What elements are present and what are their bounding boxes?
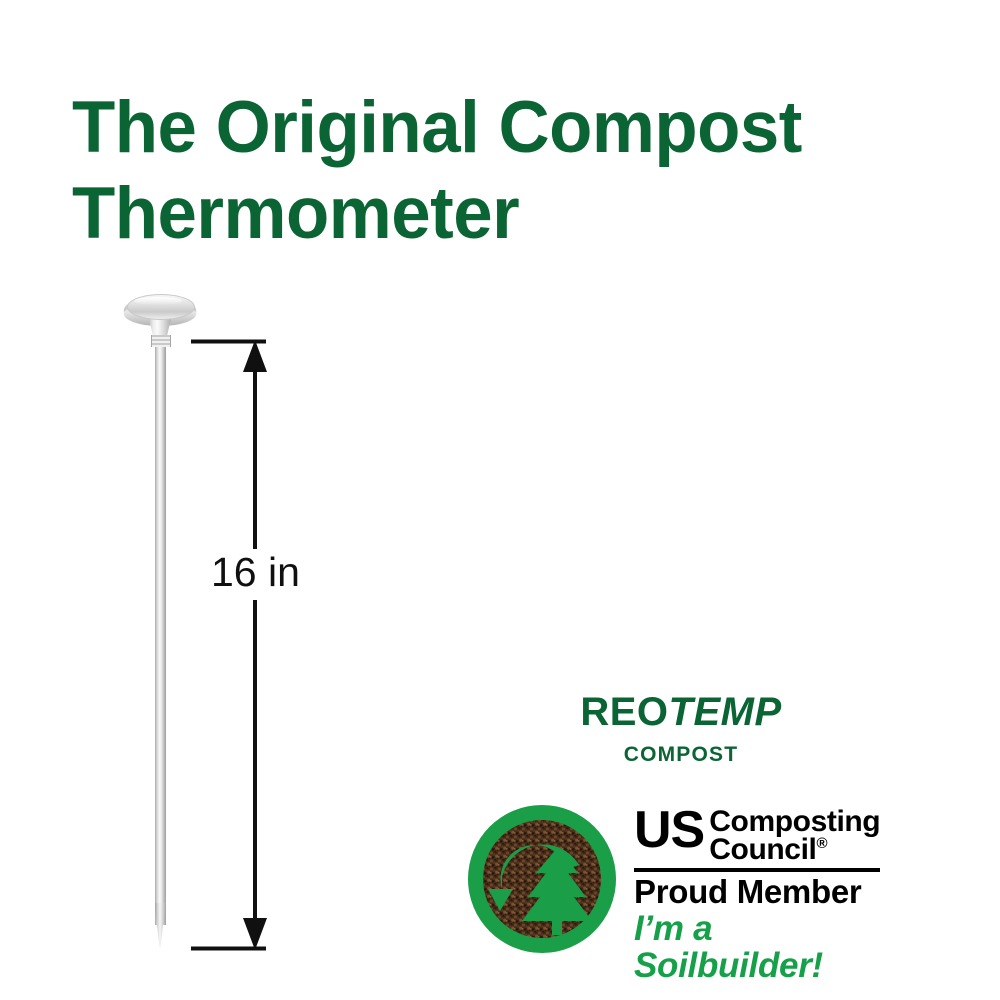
dial-gloss bbox=[134, 297, 182, 305]
uscc-proud-member-badge: US Composting Council® Proud Member I’m … bbox=[466, 803, 886, 963]
arrow-up-icon bbox=[243, 340, 267, 372]
page-title: The Original Compost Thermometer bbox=[72, 85, 945, 257]
reotemp-temp: TEMP bbox=[669, 690, 782, 734]
uscc-us-label: US bbox=[634, 807, 704, 855]
reotemp-subtitle: COMPOST bbox=[556, 743, 806, 767]
dimension-label: 16 in bbox=[204, 549, 307, 596]
poster-canvas: The Original Compost Thermometer 16 in R… bbox=[0, 0, 1000, 1000]
uscc-proud-member-label: Proud Member bbox=[634, 875, 886, 910]
registered-mark-icon: ® bbox=[816, 835, 827, 852]
probe-tip bbox=[155, 903, 166, 948]
uscc-text-block: US Composting Council® Proud Member I’m … bbox=[634, 807, 886, 984]
uscc-council-line1: Composting bbox=[709, 808, 880, 836]
reotemp-wordmark: REOTEMP bbox=[556, 692, 806, 732]
uscc-compost-emblem-icon bbox=[466, 803, 618, 955]
reotemp-reo: REO bbox=[580, 690, 668, 734]
knurled-collar bbox=[151, 335, 171, 347]
probe-stem bbox=[155, 345, 166, 925]
uscc-divider bbox=[634, 868, 880, 872]
uscc-soilbuilder-tagline: I’m a Soilbuilder! bbox=[634, 911, 886, 985]
uscc-council-label: Composting Council® bbox=[709, 808, 880, 863]
uscc-title-row: US Composting Council® bbox=[634, 807, 886, 863]
uscc-council-word: Council bbox=[709, 833, 816, 866]
arrow-down-icon bbox=[243, 918, 267, 950]
product-image-compost-thermometer bbox=[110, 285, 220, 955]
reotemp-logo: REOTEMP COMPOST bbox=[556, 692, 806, 767]
uscc-council-line2: Council® bbox=[709, 836, 880, 864]
